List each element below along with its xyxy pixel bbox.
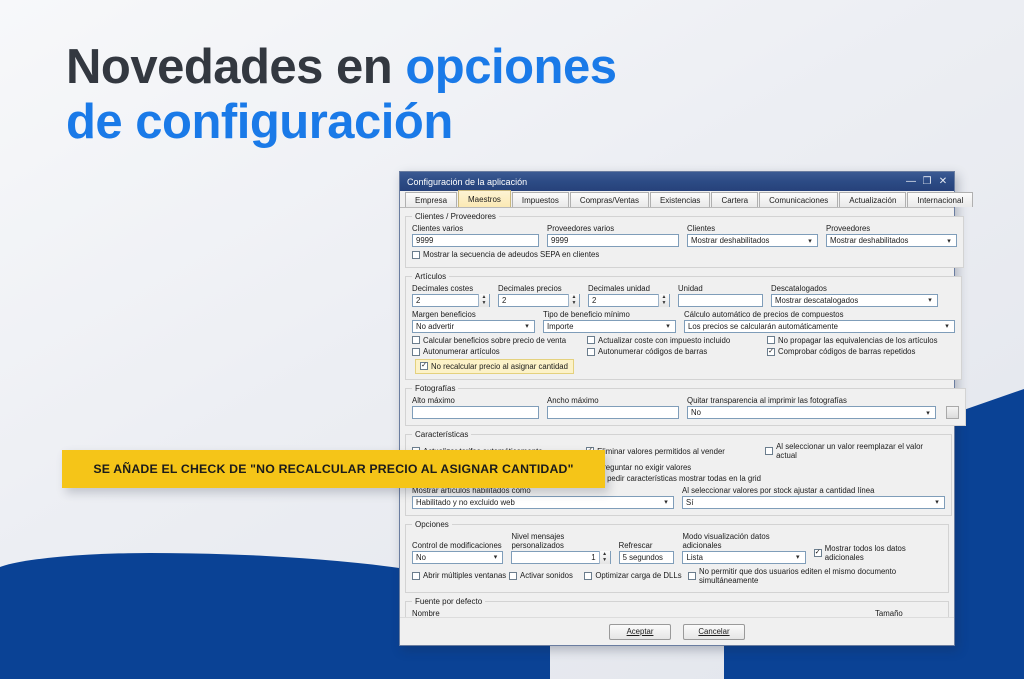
field-descatalogados: Descatalogados Mostrar descatalogados ▾ — [771, 284, 938, 307]
chevron-down-icon: ▾ — [924, 295, 936, 306]
group-legend: Opciones — [412, 520, 452, 529]
checkbox-label: Al pedir características mostrar todas e… — [598, 474, 761, 483]
chevron-down-icon: ▾ — [804, 235, 816, 246]
field-row: Mostrar artículos habilitados como Habil… — [412, 486, 945, 509]
group-legend: Clientes / Proveedores — [412, 212, 499, 221]
label-tipo-beneficio-minimo: Tipo de beneficio mínimo — [543, 310, 676, 319]
tab-page-maestros: Clientes / Proveedores Clientes varios 9… — [400, 208, 954, 645]
tab-comunicaciones[interactable]: Comunicaciones — [759, 192, 838, 207]
chevron-down-icon: ▾ — [931, 497, 943, 508]
checkbox-box — [420, 362, 428, 370]
tab-bar: Empresa Maestros Impuestos Compras/Venta… — [400, 191, 954, 208]
callout-text: SE AÑADE EL CHECK DE "NO RECALCULAR PREC… — [93, 462, 573, 476]
field-row: Decimales costes 2 ▲▼ Decimales precios … — [412, 284, 955, 307]
select-margen-beneficios-value: No advertir — [416, 322, 454, 331]
label-alto-maximo: Alto máximo — [412, 396, 539, 405]
group-articulos: Artículos Decimales costes 2 ▲▼ Decimale… — [405, 272, 962, 381]
highlight-new-feature: No recalcular precio al asignar cantidad — [415, 359, 574, 374]
select-ajustar-cantidad-value: Sí — [686, 498, 693, 507]
checkbox-mostrar-todos-datos[interactable]: Mostrar todos los datos adicionales — [814, 544, 942, 562]
checkbox-no-propagar[interactable]: No propagar las equivalencias de los art… — [767, 336, 938, 345]
checkbox-calcular-beneficios[interactable]: Calcular beneficios sobre precio de vent… — [412, 336, 587, 345]
label-proveedores: Proveedores — [826, 224, 957, 233]
stepper-arrows-icon[interactable]: ▲▼ — [568, 294, 579, 307]
accept-button-label: Aceptar — [627, 627, 654, 636]
checkbox-row: Abrir múltiples ventanas Activar sonidos… — [412, 567, 942, 585]
chevron-down-icon: ▾ — [660, 497, 672, 508]
accept-button[interactable]: Aceptar — [609, 624, 671, 640]
label-decimales-costes: Decimales costes — [412, 284, 490, 293]
checkbox-no-recalcular-precio[interactable]: No recalcular precio al asignar cantidad — [420, 362, 568, 371]
headline-text-blue: opciones — [405, 40, 616, 94]
field-mostrar-como: Mostrar artículos habilitados como Habil… — [412, 486, 674, 509]
checkbox-sepa[interactable]: Mostrar la secuencia de adeudos SEPA en … — [412, 250, 599, 259]
select-mostrar-como-value: Habilitado y no excluido web — [416, 498, 515, 507]
checkbox-row: Calcular beneficios sobre precio de vent… — [412, 336, 955, 345]
input-unidad[interactable] — [678, 294, 763, 307]
checkbox-label: Mostrar todos los datos adicionales — [825, 544, 942, 562]
stepper-value: 1 — [512, 553, 598, 562]
field-unidad: Unidad — [678, 284, 763, 307]
checkbox-label: No permitir que dos usuarios editen el m… — [699, 567, 942, 585]
select-quitar-transparencia-value: No — [691, 408, 701, 417]
label-calculo-compuestos: Cálculo automático de precios de compues… — [684, 310, 955, 319]
checkbox-no-permitir-edicion-simultanea[interactable]: No permitir que dos usuarios editen el m… — [688, 567, 942, 585]
checkbox-row: Mostrar la secuencia de adeudos SEPA en … — [412, 250, 957, 259]
tab-existencias[interactable]: Existencias — [650, 192, 710, 207]
field-ajustar-cantidad: Al seleccionar valores por stock ajustar… — [682, 486, 945, 509]
field-ancho-maximo: Ancho máximo — [547, 396, 679, 419]
checkbox-box — [765, 447, 773, 455]
field-row: Clientes varios 9999 Proveedores varios … — [412, 224, 957, 247]
stepper-decimales-costes[interactable]: 2 ▲▼ — [412, 294, 490, 307]
browse-button[interactable] — [946, 406, 959, 419]
maximize-icon[interactable]: ❐ — [919, 175, 935, 189]
checkbox-activar-sonidos[interactable]: Activar sonidos — [509, 567, 584, 585]
field-modo-visualizacion: Modo visualización datos adicionales Lis… — [682, 532, 805, 564]
label-margen-beneficios: Margen beneficios — [412, 310, 535, 319]
checkbox-label: Activar sonidos — [520, 571, 573, 580]
label-decimales-precios: Decimales precios — [498, 284, 580, 293]
callout-banner: SE AÑADE EL CHECK DE "NO RECALCULAR PREC… — [62, 450, 605, 488]
checkbox-reemplazar-valor-actual[interactable]: Al seleccionar un valor reemplazar el va… — [765, 442, 945, 460]
chevron-down-icon: ▾ — [943, 235, 955, 246]
checkbox-box — [814, 549, 822, 557]
checkbox-label: No recalcular precio al asignar cantidad — [431, 362, 568, 371]
window-title: Configuración de la aplicación — [407, 177, 903, 187]
input-clientes-varios[interactable]: 9999 — [412, 234, 539, 247]
group-opciones: Opciones Control de modificaciones No ▾ … — [405, 520, 949, 594]
checkbox-label: Preguntar no exigir valores — [598, 463, 691, 472]
select-mostrar-como[interactable]: Habilitado y no excluido web ▾ — [412, 496, 674, 509]
checkbox-box — [767, 336, 775, 344]
checkbox-box — [509, 572, 517, 580]
stepper-decimales-unidad[interactable]: 2 ▲▼ — [588, 294, 670, 307]
field-refrescar: Refrescar 5 segundos — [619, 541, 675, 564]
stepper-nivel-mensajes[interactable]: 1 ▲▼ — [511, 551, 610, 564]
stepper-value: 2 — [589, 296, 658, 305]
input-refrescar[interactable]: 5 segundos — [619, 551, 675, 564]
checkbox-label: Comprobar códigos de barras repetidos — [778, 347, 915, 356]
window-titlebar[interactable]: Configuración de la aplicación — ❐ ✕ — [400, 172, 954, 191]
chevron-down-icon: ▾ — [489, 552, 501, 563]
checkbox-preguntar-no-exigir-valores[interactable]: Preguntar no exigir valores — [587, 463, 767, 472]
field-nivel-mensajes: Nivel mensajes personalizados 1 ▲▼ — [511, 532, 610, 564]
checkbox-optimizar-dlls[interactable]: Optimizar carga de DLLs — [584, 567, 688, 585]
headline-text-dark: Novedades en — [66, 40, 405, 94]
cancel-button[interactable]: Cancelar — [683, 624, 745, 640]
checkbox-box — [587, 348, 595, 356]
application-window: Configuración de la aplicación — ❐ ✕ Emp… — [399, 171, 955, 646]
select-quitar-transparencia[interactable]: No ▾ — [687, 406, 936, 419]
label-nivel-mensajes: Nivel mensajes personalizados — [511, 532, 610, 550]
stepper-arrows-icon[interactable]: ▲▼ — [599, 551, 610, 564]
label-ajustar-cantidad: Al seleccionar valores por stock ajustar… — [682, 486, 945, 495]
checkbox-box — [767, 348, 775, 356]
checkbox-autonumerar-codigos-barras[interactable]: Autonumerar códigos de barras — [587, 347, 767, 356]
field-decimales-unidad: Decimales unidad 2 ▲▼ — [588, 284, 670, 307]
stepper-arrows-icon[interactable]: ▲▼ — [658, 294, 669, 307]
select-tipo-beneficio-minimo[interactable]: Importe ▾ — [543, 320, 676, 333]
label-ancho-maximo: Ancho máximo — [547, 396, 679, 405]
dialog-button-bar: Aceptar Cancelar — [400, 617, 954, 645]
checkbox-row: Autonumerar artículos Autonumerar código… — [412, 347, 955, 356]
field-margen-beneficios: Margen beneficios No advertir ▾ — [412, 310, 535, 333]
stepper-value: 2 — [413, 296, 478, 305]
stepper-value: 2 — [499, 296, 568, 305]
select-calculo-compuestos-value: Los precios se calcularán automáticament… — [688, 322, 838, 331]
select-modo-visualizacion[interactable]: Lista ▾ — [682, 551, 805, 564]
close-icon[interactable]: ✕ — [935, 175, 951, 189]
select-control-modificaciones-value: No — [416, 553, 426, 562]
label-decimales-unidad: Decimales unidad — [588, 284, 670, 293]
tab-impuestos[interactable]: Impuestos — [512, 192, 569, 207]
tab-actualizacion[interactable]: Actualización — [839, 192, 906, 207]
field-calculo-compuestos: Cálculo automático de precios de compues… — [684, 310, 955, 333]
group-fotografias: Fotografías Alto máximo Ancho máximo Qui… — [405, 384, 966, 426]
chevron-down-icon: ▾ — [521, 321, 533, 332]
select-tipo-beneficio-minimo-value: Importe — [547, 322, 573, 331]
field-tipo-beneficio-minimo: Tipo de beneficio mínimo Importe ▾ — [543, 310, 676, 333]
group-legend: Características — [412, 430, 471, 439]
group-legend: Artículos — [412, 272, 449, 281]
checkbox-label: Autonumerar artículos — [423, 347, 500, 356]
checkbox-label: Calcular beneficios sobre precio de vent… — [423, 336, 566, 345]
checkbox-label: No propagar las equivalencias de los art… — [778, 336, 938, 345]
select-descatalogados[interactable]: Mostrar descatalogados ▾ — [771, 294, 938, 307]
checkbox-box — [412, 572, 420, 580]
label-clientes: Clientes — [687, 224, 818, 233]
field-clientes-varios: Clientes varios 9999 — [412, 224, 539, 247]
checkbox-box — [412, 336, 420, 344]
input-alto-maximo[interactable] — [412, 406, 539, 419]
page-title: Novedades en opciones de configuración — [66, 40, 616, 151]
label-refrescar: Refrescar — [619, 541, 675, 550]
group-legend: Fuente por defecto — [412, 597, 485, 606]
minimize-icon[interactable]: — — [903, 175, 919, 189]
label-control-modificaciones: Control de modificaciones — [412, 541, 503, 550]
input-proveedores-varios[interactable]: 9999 — [547, 234, 679, 247]
checkbox-box — [412, 348, 420, 356]
field-row: Control de modificaciones No ▾ Nivel men… — [412, 532, 942, 564]
checkbox-mostrar-todas-en-grid[interactable]: Al pedir características mostrar todas e… — [587, 474, 767, 483]
headline-line-2: de configuración — [66, 95, 616, 150]
label-modo-visualizacion: Modo visualización datos adicionales — [682, 532, 805, 550]
headline-line-1: Novedades en opciones — [66, 40, 616, 95]
label-proveedores-varios: Proveedores varios — [547, 224, 679, 233]
field-quitar-transparencia: Quitar transparencia al imprimir las fot… — [687, 396, 936, 419]
field-decimales-precios: Decimales precios 2 ▲▼ — [498, 284, 580, 307]
select-calculo-compuestos[interactable]: Los precios se calcularán automáticament… — [684, 320, 955, 333]
select-ajustar-cantidad[interactable]: Sí ▾ — [682, 496, 945, 509]
checkbox-row-new-feature: No recalcular precio al asignar cantidad — [412, 359, 955, 372]
checkbox-autonumerar-articulos[interactable]: Autonumerar artículos — [412, 347, 587, 356]
checkbox-box — [587, 336, 595, 344]
checkbox-box — [412, 251, 420, 259]
checkbox-label: Actualizar coste con impuesto incluido — [598, 336, 730, 345]
label-descatalogados: Descatalogados — [771, 284, 938, 293]
stepper-decimales-precios[interactable]: 2 ▲▼ — [498, 294, 580, 307]
cancel-button-label: Cancelar — [698, 627, 729, 636]
group-clientes-proveedores: Clientes / Proveedores Clientes varios 9… — [405, 212, 964, 268]
chevron-down-icon: ▾ — [792, 552, 804, 563]
field-row: Alto máximo Ancho máximo Quitar transpar… — [412, 396, 959, 419]
group-legend: Fotografías — [412, 384, 458, 393]
checkbox-label: Autonumerar códigos de barras — [598, 347, 707, 356]
field-clientes: Clientes Mostrar deshabilitados ▾ — [687, 224, 818, 247]
select-modo-visualizacion-value: Lista — [686, 553, 702, 562]
chevron-down-icon: ▾ — [662, 321, 674, 332]
tab-empresa[interactable]: Empresa — [405, 192, 457, 207]
field-control-modificaciones: Control de modificaciones No ▾ — [412, 541, 503, 564]
chevron-down-icon: ▾ — [922, 407, 934, 418]
select-proveedores-value: Mostrar deshabilitados — [830, 236, 908, 245]
input-ancho-maximo[interactable] — [547, 406, 679, 419]
select-descatalogados-value: Mostrar descatalogados — [775, 296, 858, 305]
checkbox-label: Eliminar valores permitidos al vender — [597, 447, 725, 456]
tab-internacional[interactable]: Internacional — [907, 192, 973, 207]
checkbox-label: Al seleccionar un valor reemplazar el va… — [776, 442, 945, 460]
label-clientes-varios: Clientes varios — [412, 224, 539, 233]
checkbox-label: Abrir múltiples ventanas — [423, 571, 506, 580]
field-alto-maximo: Alto máximo — [412, 396, 539, 419]
checkbox-abrir-multiples-ventanas[interactable]: Abrir múltiples ventanas — [412, 567, 509, 585]
select-margen-beneficios[interactable]: No advertir ▾ — [412, 320, 535, 333]
select-clientes[interactable]: Mostrar deshabilitados ▾ — [687, 234, 818, 247]
tab-maestros[interactable]: Maestros — [458, 190, 511, 207]
select-control-modificaciones[interactable]: No ▾ — [412, 551, 503, 564]
field-proveedores-varios: Proveedores varios 9999 — [547, 224, 679, 247]
tab-cartera[interactable]: Cartera — [711, 192, 758, 207]
stepper-arrows-icon[interactable]: ▲▼ — [478, 294, 489, 307]
field-proveedores: Proveedores Mostrar deshabilitados ▾ — [826, 224, 957, 247]
field-row: Margen beneficios No advertir ▾ Tipo de … — [412, 310, 955, 333]
checkbox-label: Mostrar la secuencia de adeudos SEPA en … — [423, 250, 599, 259]
checkbox-box — [688, 572, 696, 580]
label-quitar-transparencia: Quitar transparencia al imprimir las fot… — [687, 396, 936, 405]
field-decimales-costes: Decimales costes 2 ▲▼ — [412, 284, 490, 307]
checkbox-comprobar-codigos-repetidos[interactable]: Comprobar códigos de barras repetidos — [767, 347, 915, 356]
select-clientes-value: Mostrar deshabilitados — [691, 236, 769, 245]
select-proveedores[interactable]: Mostrar deshabilitados ▾ — [826, 234, 957, 247]
label-unidad: Unidad — [678, 284, 763, 293]
checkbox-eliminar-valores-permitidos[interactable]: Eliminar valores permitidos al vender — [586, 442, 765, 460]
checkbox-actualizar-coste[interactable]: Actualizar coste con impuesto incluido — [587, 336, 767, 345]
checkbox-box — [584, 572, 592, 580]
chevron-down-icon: ▾ — [941, 321, 953, 332]
checkbox-label: Optimizar carga de DLLs — [595, 571, 681, 580]
tab-compras-ventas[interactable]: Compras/Ventas — [570, 192, 649, 207]
